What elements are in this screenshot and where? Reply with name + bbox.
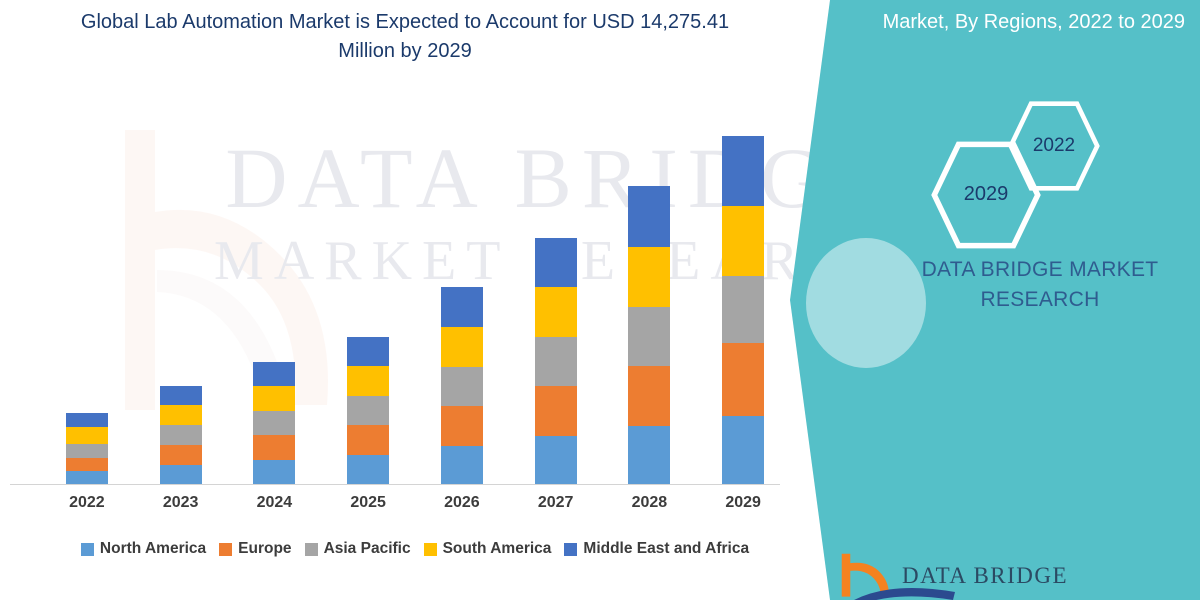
bar-segment <box>535 436 577 485</box>
bar-segment <box>253 460 295 485</box>
legend-item: Asia Pacific <box>305 540 411 558</box>
stacked-bar <box>160 386 202 485</box>
bar-segment <box>160 386 202 405</box>
bar-segment <box>628 366 670 426</box>
x-axis-label: 2026 <box>417 494 507 512</box>
bar-segment <box>160 425 202 445</box>
bar-segment <box>253 386 295 411</box>
bar-segment <box>535 287 577 337</box>
stacked-bar <box>535 238 577 485</box>
bar-segment <box>535 337 577 386</box>
bar-group <box>323 120 413 485</box>
bar-segment <box>347 366 389 396</box>
legend-swatch <box>564 543 577 556</box>
logo-arc-icon <box>845 578 965 600</box>
stacked-bar-chart <box>40 120 790 485</box>
bar-segment <box>66 427 108 444</box>
bar-segment <box>347 396 389 425</box>
bar-segment <box>441 446 483 485</box>
stacked-bar <box>441 287 483 485</box>
bar-group <box>511 120 601 485</box>
bar-group <box>698 120 788 485</box>
legend-label: South America <box>443 540 552 558</box>
panel-title: Market, By Regions, 2022 to 2029 <box>845 8 1185 37</box>
legend-item: South America <box>424 540 552 558</box>
bar-segment <box>722 343 764 416</box>
bar-segment <box>347 337 389 366</box>
bar-segment <box>441 406 483 446</box>
bar-segment <box>722 136 764 206</box>
stacked-bar <box>66 413 108 485</box>
panel-brand-name: DATA BRIDGE MARKET RESEARCH <box>880 255 1200 315</box>
bar-segment <box>253 435 295 460</box>
legend-label: Europe <box>238 540 291 558</box>
x-axis-label: 2023 <box>136 494 226 512</box>
bar-segment <box>441 327 483 367</box>
x-axis-line <box>10 484 780 485</box>
bar-segment <box>66 471 108 485</box>
legend-item: North America <box>81 540 206 558</box>
x-axis-labels: 20222023202420252026202720282029 <box>40 494 790 512</box>
legend-swatch <box>219 543 232 556</box>
bar-segment <box>66 444 108 458</box>
stacked-bar <box>347 337 389 485</box>
legend-item: Middle East and Africa <box>564 540 749 558</box>
x-axis-label: 2024 <box>229 494 319 512</box>
bar-segment <box>722 276 764 343</box>
bar-segment <box>441 367 483 406</box>
bar-segment <box>628 426 670 485</box>
legend-swatch <box>305 543 318 556</box>
bar-group <box>417 120 507 485</box>
legend-label: North America <box>100 540 206 558</box>
bar-segment <box>535 386 577 436</box>
x-axis-label: 2022 <box>42 494 132 512</box>
bar-group <box>42 120 132 485</box>
bar-segment <box>66 413 108 427</box>
legend-label: Middle East and Africa <box>583 540 749 558</box>
bar-segment <box>722 416 764 485</box>
legend-label: Asia Pacific <box>324 540 411 558</box>
bar-segment <box>628 307 670 366</box>
bar-group <box>136 120 226 485</box>
bar-segment <box>628 186 670 247</box>
stacked-bar <box>628 186 670 485</box>
x-axis-label: 2027 <box>511 494 601 512</box>
bar-segment <box>347 455 389 485</box>
legend-swatch <box>81 543 94 556</box>
x-axis-label: 2029 <box>698 494 788 512</box>
hexagon-label-2029: 2029 <box>930 183 1042 206</box>
bar-segment <box>347 425 389 455</box>
chart-legend: North AmericaEuropeAsia PacificSouth Ame… <box>40 540 790 558</box>
bar-segment <box>160 465 202 485</box>
legend-item: Europe <box>219 540 291 558</box>
bar-segment <box>253 411 295 435</box>
bar-group <box>604 120 694 485</box>
bar-segment <box>66 458 108 471</box>
bar-segment <box>722 206 764 276</box>
legend-swatch <box>424 543 437 556</box>
x-axis-label: 2025 <box>323 494 413 512</box>
stacked-bar <box>722 136 764 485</box>
bar-group <box>229 120 319 485</box>
hexagon-badge-2029: 2029 <box>930 140 1042 250</box>
bar-segment <box>253 362 295 386</box>
bar-segment <box>628 247 670 307</box>
bar-series-container <box>40 120 790 485</box>
x-axis-label: 2028 <box>604 494 694 512</box>
infographic-canvas: DATA BRIDGE MARKET RESEARCH Global Lab A… <box>0 0 1200 600</box>
bar-segment <box>535 238 577 287</box>
chart-title: Global Lab Automation Market is Expected… <box>60 8 750 66</box>
bar-segment <box>441 287 483 327</box>
bar-segment <box>160 445 202 465</box>
bar-segment <box>160 405 202 425</box>
stacked-bar <box>253 362 295 485</box>
